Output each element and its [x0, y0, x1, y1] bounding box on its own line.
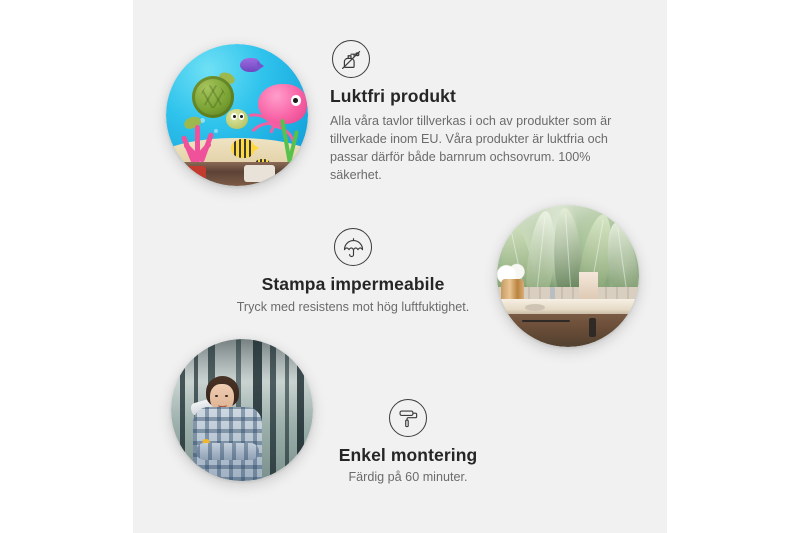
feature-title: Luktfri produkt [330, 86, 630, 107]
feature-block-odourless: Luktfri produkt Alla våra tavlor tillver… [330, 40, 630, 185]
coral [183, 124, 220, 164]
feature-title: Stampa impermeabile [208, 274, 498, 295]
underwater-cartoon-circle [166, 44, 308, 186]
yellow-fish [231, 139, 254, 157]
feature-description: Alla våra tavlor tillverkas i och av pro… [330, 113, 630, 185]
wooden-vanity [508, 314, 639, 347]
feature-title: Enkel montering [288, 445, 528, 466]
product-feature-infographic: Luktfri produkt Alla våra tavlor tillver… [0, 0, 800, 533]
purple-fish [240, 58, 260, 72]
paint-roller-icon [389, 399, 427, 437]
ocean-foreground-strip [166, 162, 308, 186]
woman-with-paint-roller [188, 376, 270, 481]
feature-block-waterproof: Stampa impermeabile Tryck med resistens … [208, 228, 498, 317]
umbrella-icon [334, 228, 372, 266]
feature-block-assembly: Enkel montering Färdig på 60 minuter. [288, 399, 528, 487]
bathroom-tropical-wallpaper-circle [497, 205, 639, 347]
seaweed [282, 115, 299, 163]
no-odour-spray-bottle-icon [332, 40, 370, 78]
feature-description: Tryck med resistens mot hög luftfuktighe… [208, 299, 498, 317]
feature-description: Färdig på 60 minuter. [288, 469, 528, 487]
stone-countertop [497, 299, 639, 315]
